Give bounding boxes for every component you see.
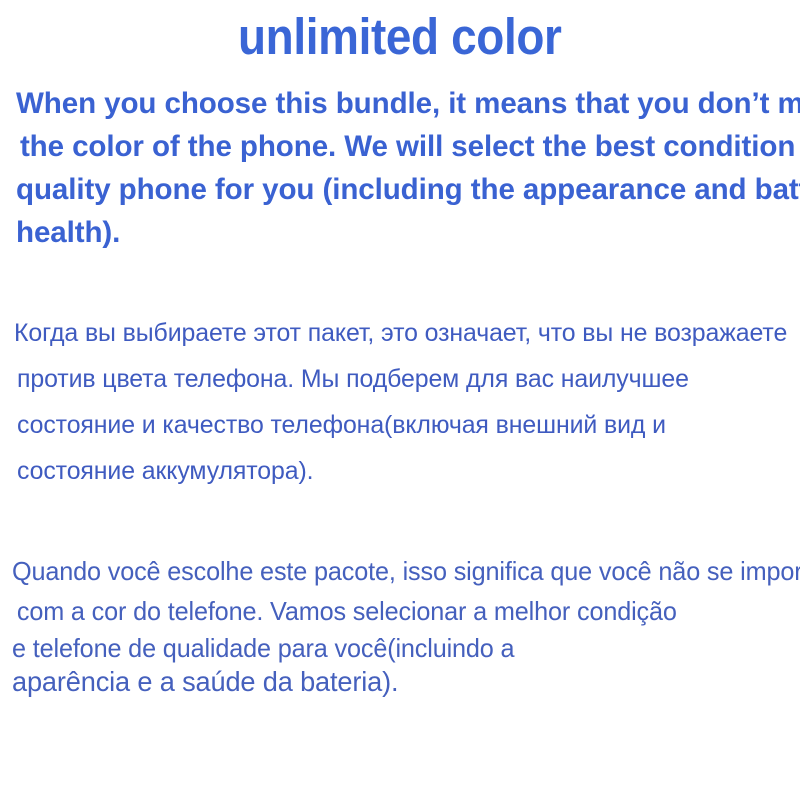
description-line-ru-4: состояние аккумулятора). bbox=[14, 448, 796, 494]
description-line-en-2: the color of the phone. We will select t… bbox=[16, 125, 788, 168]
description-line-pt-2: com a cor do telefone. Vamos selecionar … bbox=[12, 591, 776, 631]
product-description-page: unlimited color When you choose this bun… bbox=[0, 0, 800, 800]
description-paragraph-russian: Когда вы выбираете этот пакет, это означ… bbox=[14, 310, 800, 494]
description-line-en-3: quality phone for you (including the app… bbox=[16, 168, 788, 211]
description-line-en-4: health). bbox=[16, 211, 788, 254]
description-line-ru-3: состояние и качество телефона(включая вн… bbox=[14, 402, 796, 448]
description-line-en-1: When you choose this bundle, it means th… bbox=[16, 82, 788, 125]
page-title-container: unlimited color bbox=[0, 8, 800, 66]
page-title: unlimited color bbox=[238, 8, 562, 66]
description-line-pt-3: e telefone de qualidade para você(inclui… bbox=[12, 631, 776, 665]
description-paragraph-english: When you choose this bundle, it means th… bbox=[16, 82, 800, 254]
description-line-pt-1: Quando você escolhe este pacote, isso si… bbox=[12, 551, 776, 591]
description-paragraph-portuguese: Quando você escolhe este pacote, isso si… bbox=[12, 551, 800, 699]
description-line-ru-2: против цвета телефона. Мы подберем для в… bbox=[14, 356, 796, 402]
description-line-pt-4: aparência e a saúde da bateria). bbox=[12, 665, 776, 699]
description-line-ru-1: Когда вы выбираете этот пакет, это означ… bbox=[14, 310, 796, 356]
